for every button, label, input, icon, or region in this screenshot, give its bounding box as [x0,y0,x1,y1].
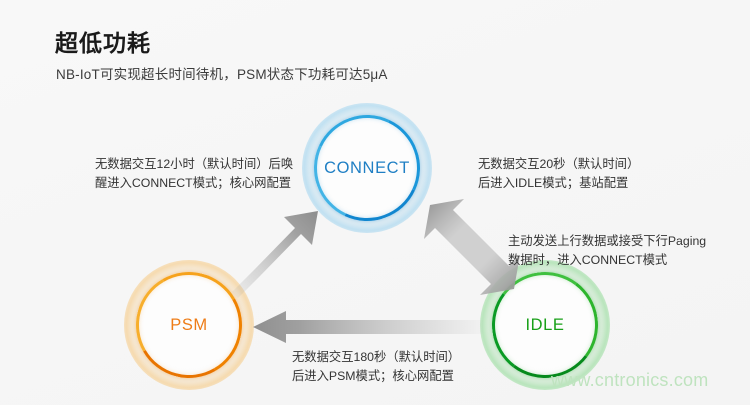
arrow-psm-to-connect [232,211,318,298]
psm-label: PSM [170,316,208,335]
arrow-connect-idle-bidirectional [424,199,520,295]
annotation-line: 后进入PSM模式；核心网配置 [292,367,460,386]
annotation-line: 主动发送上行数据或接受下行Paging [508,232,706,251]
site-watermark: www.cntronics.com [551,370,708,391]
arrow-layer [0,0,750,405]
annotation-psm-to-connect: 无数据交互12小时（默认时间）后唤 醒进入CONNECT模式；核心网配置 [95,155,293,193]
arrow-idle-to-psm [253,311,483,343]
annotation-line: 无数据交互180秒（默认时间） [292,348,460,367]
annotation-idle-to-psm: 无数据交互180秒（默认时间） 后进入PSM模式；核心网配置 [292,348,460,386]
idle-label: IDLE [525,316,564,335]
slide-canvas: 超低功耗 NB-IoT可实现超长时间待机，PSM状态下功耗可达5μA [0,0,750,405]
annotation-line: 醒进入CONNECT模式；核心网配置 [95,174,293,193]
annotation-line: 无数据交互20秒（默认时间） [478,155,639,174]
annotation-line: 数据时，进入CONNECT模式 [508,251,706,270]
annotation-line: 无数据交互12小时（默认时间）后唤 [95,155,293,174]
annotation-line: 后进入IDLE模式；基站配置 [478,174,639,193]
annotation-idle-to-connect: 主动发送上行数据或接受下行Paging 数据时，进入CONNECT模式 [508,232,706,270]
annotation-connect-to-idle: 无数据交互20秒（默认时间） 后进入IDLE模式；基站配置 [478,155,639,193]
connect-label: CONNECT [324,159,410,178]
